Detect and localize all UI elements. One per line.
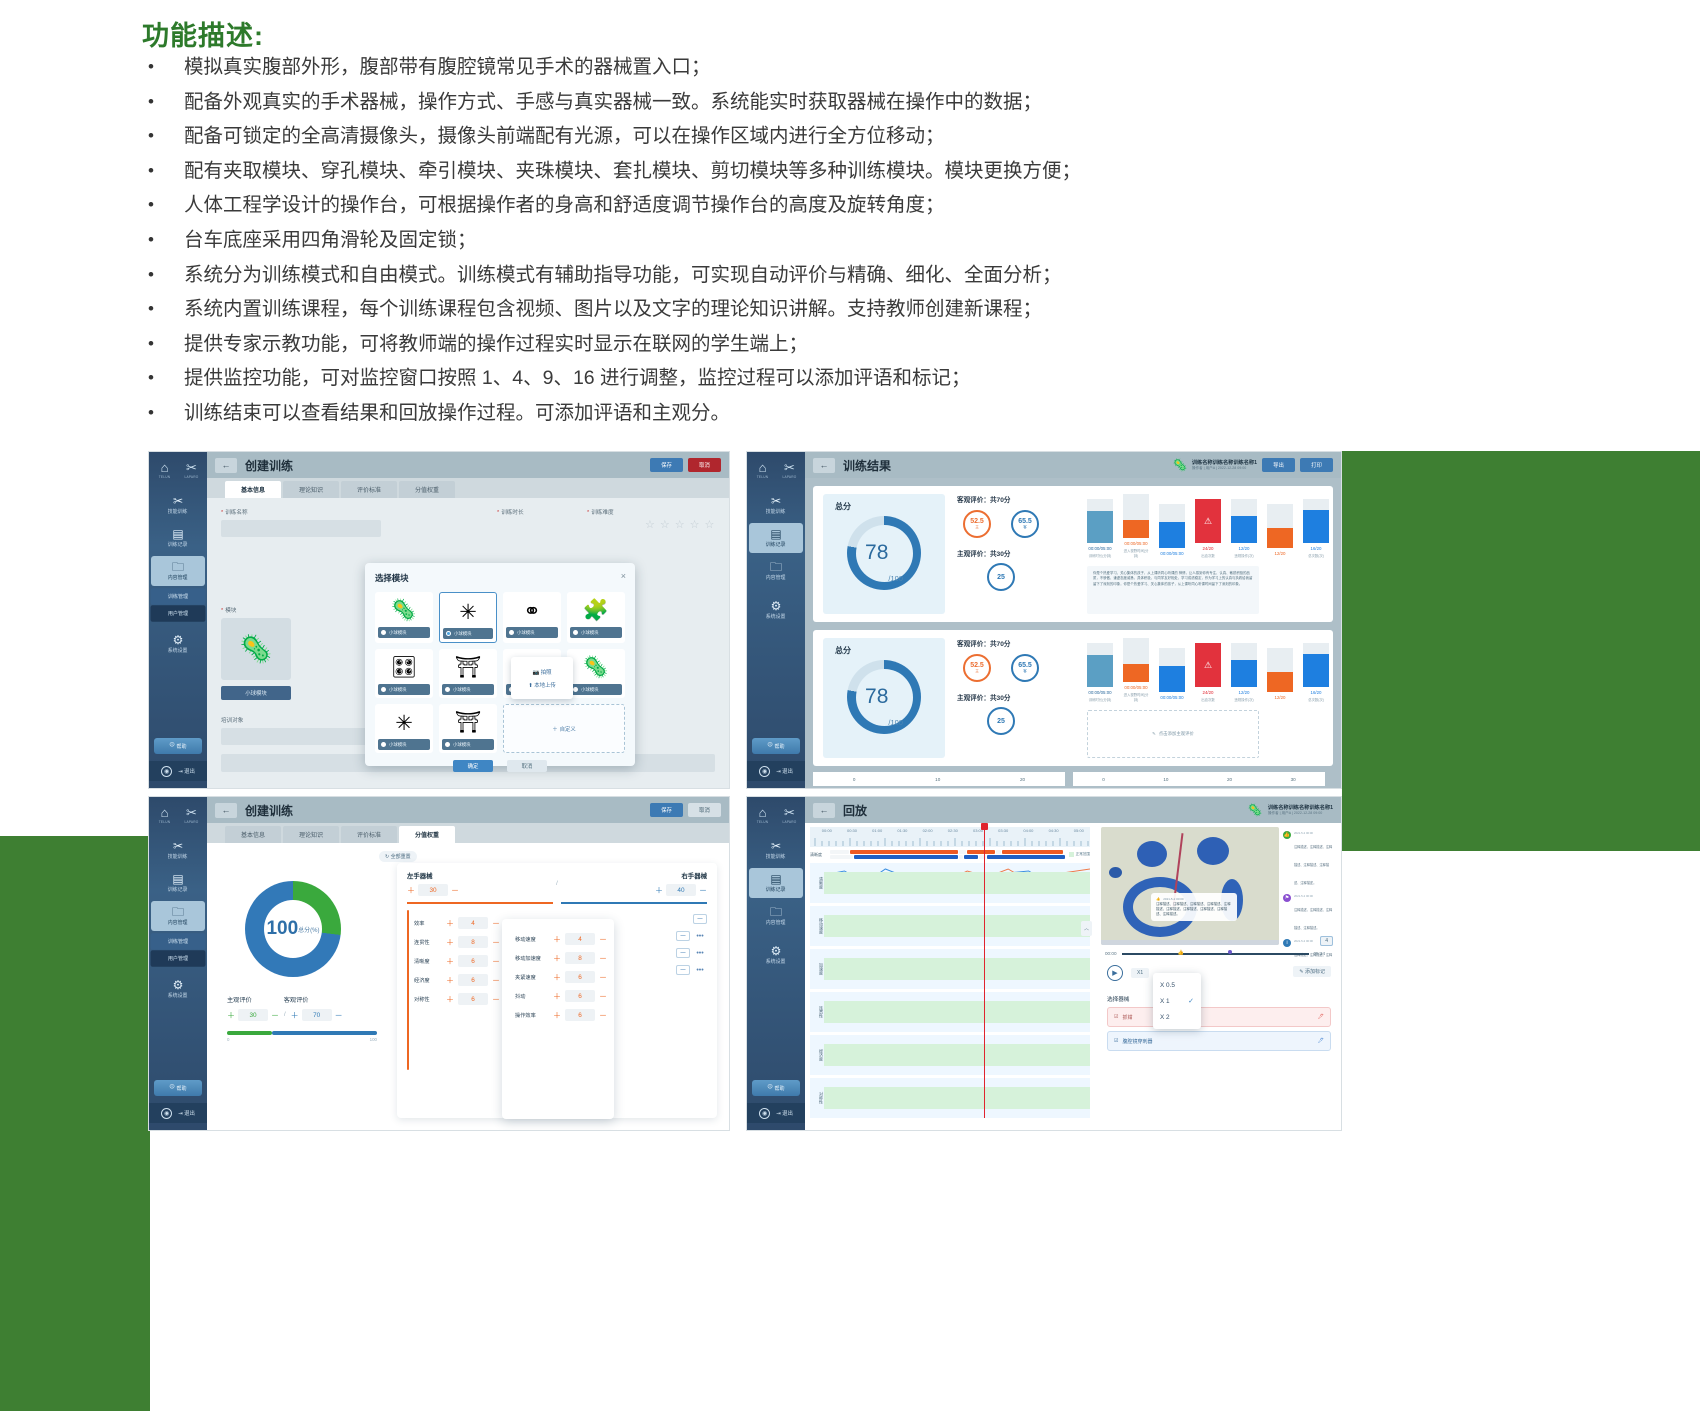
back-button[interactable]: ← <box>215 803 237 818</box>
checkbox-icon[interactable]: ☑ <box>1114 1038 1118 1044</box>
module-select-button[interactable]: 小球模块 <box>221 686 291 700</box>
label-target: 培训对象 <box>221 716 243 724</box>
sidebar-subitem-training-management[interactable]: 训练管理 <box>151 933 206 950</box>
sidebar-item-system-settings[interactable]: ⚙系统设置 <box>749 595 803 625</box>
feature-item: •系统分为训练模式和自由模式。训练模式有辅助指导功能，可实现自动评价与精确、细化… <box>142 264 1342 286</box>
metric-bar: 12/20 <box>1267 648 1293 702</box>
sidebar-item-label: 技能训练 <box>168 509 188 516</box>
axis-tick: 10 <box>1163 777 1168 782</box>
minus-icon[interactable]: － <box>693 914 707 924</box>
instrument-label: 抓钳 <box>1122 1014 1132 1021</box>
feature-text: 模拟真实腹部外形，腹部带有腹腔镜常见手术的器械置入口； <box>184 56 711 78</box>
module-thumbnail: 🦠 <box>378 595 430 627</box>
sidebar-subitem-training-management[interactable]: 训练管理 <box>151 588 206 605</box>
weights-slider[interactable] <box>227 1031 377 1035</box>
module-option[interactable]: ⚭小球模块 <box>503 592 561 643</box>
module-option-label: 小球模块 <box>453 742 471 748</box>
metric-bar: 12/20 <box>1267 504 1293 558</box>
sidebar-item-label: 系统设置 <box>168 648 188 655</box>
more-options-button[interactable]: ••• <box>693 948 707 958</box>
feature-item: •台车底座采用四角滑轮及固定锁； <box>142 229 1342 251</box>
playhead[interactable] <box>984 827 985 1118</box>
metric-value[interactable]: 6 <box>565 990 595 1002</box>
subjective-stepper[interactable]: ＋ 30 － <box>227 1009 279 1021</box>
help-button[interactable]: 🛈帮助 <box>752 1080 800 1096</box>
module-option[interactable]: ⛩小球模块 <box>439 649 497 698</box>
sidebar-item-label: 内容管理 <box>766 920 786 927</box>
minus-icon[interactable]: － <box>676 931 690 941</box>
instrument-icon: ✂ <box>771 495 781 508</box>
local-upload-option[interactable]: ⬆ 本地上传 <box>528 681 556 689</box>
feature-text: 提供专家示教功能，可将教师端的操作过程实时显示在联网的学生端上； <box>184 333 808 355</box>
instrument-row[interactable]: ☑腹腔镜穿刺器 🖊 <box>1107 1031 1331 1051</box>
help-label: 帮助 <box>177 1085 187 1092</box>
help-label: 帮助 <box>177 743 187 750</box>
avatar[interactable]: ◉ <box>161 1108 172 1119</box>
plus-icon[interactable]: ＋ <box>407 885 415 896</box>
module-option[interactable]: 🦠小球模块 <box>375 592 433 643</box>
total-score-title: 总分 <box>835 501 851 512</box>
upload-menu: 📷 拍照 ⬆ 本地上传 <box>511 657 573 699</box>
avatar[interactable]: ◉ <box>161 766 172 777</box>
logo-instrument-icon: ✂ <box>186 807 197 819</box>
objective-title: 客观评价：共70分 <box>957 638 1075 648</box>
minus-icon[interactable]: － <box>492 994 500 1005</box>
sidebar-item-label: 技能训练 <box>766 854 786 861</box>
sidebar-subitem-user-management[interactable]: 用户管理 <box>151 605 206 622</box>
tab-theory[interactable]: 理论知识 <box>283 826 339 843</box>
avatar[interactable]: ◉ <box>759 766 770 777</box>
radio-icon[interactable] <box>381 742 386 747</box>
marker-dot[interactable] <box>1228 950 1232 954</box>
back-button[interactable]: ← <box>215 458 237 473</box>
topbar: ← 回放 🦠 训练名称训练名称训练名称1 操作者 | 用户A | 2022-12… <box>805 797 1341 823</box>
metric-value[interactable]: 6 <box>565 1009 595 1021</box>
plus-icon[interactable]: ＋ <box>655 885 663 896</box>
metric-value[interactable]: 6 <box>458 993 488 1005</box>
topbar: ← 训练结果 🦠 训练名称训练名称训练名称1 操作者 | 用户A | 2022-… <box>805 452 1341 478</box>
plus-icon[interactable]: ＋ <box>553 991 561 1002</box>
total-score-max: /100 <box>888 718 903 727</box>
note-text: 注释描述、注释描述、注释描述、注释描述、注释描述、注释描述、注释描述、注释描述、… <box>1156 902 1232 917</box>
weights-donut-wrap: 100 总分(%) <box>245 881 341 977</box>
seek-bar[interactable]: 00:00 👍 05:24 <box>1105 951 1325 956</box>
dialog-cancel-button[interactable]: 取消 <box>507 760 547 772</box>
metric-value[interactable]: 8 <box>458 936 488 948</box>
ruler-tick-label: 02:30 <box>948 828 958 833</box>
left-hand-value[interactable]: 30 <box>418 884 448 896</box>
total-score-value: 78 <box>865 685 888 709</box>
metric-bar: ⚠24/20出血次数 <box>1195 643 1221 702</box>
target-input[interactable] <box>221 728 381 745</box>
comment-text: 注释描述、注释描述、注释描述、注释描述、注释描述、注释描述。 <box>1294 845 1332 885</box>
module-thumbnail: ⚭ <box>506 595 558 627</box>
thumbs-up-icon: 👍 <box>1283 831 1291 839</box>
plus-icon: ＋ <box>552 725 557 733</box>
custom-label: 自定义 <box>560 725 576 733</box>
metric-value[interactable]: 6 <box>565 971 595 983</box>
sidebar-item-label: 内容管理 <box>168 575 188 582</box>
metric-value[interactable]: 4 <box>565 933 595 945</box>
training-name-input[interactable] <box>221 520 381 537</box>
sidebar-item-content-management[interactable]: 🗀内容管理 <box>749 901 803 931</box>
dialog-title: 选择模块 <box>375 572 625 584</box>
minus-icon[interactable]: － <box>599 953 607 964</box>
bullet-icon: • <box>142 56 184 78</box>
minus-icon[interactable]: － <box>599 991 607 1002</box>
feature-text: 配有夹取模块、穿孔模块、牵引模块、夹珠模块、套扎模块、剪切模块等多种训练模块。模… <box>184 160 1081 182</box>
module-option[interactable]: ✳小球模块 <box>375 704 433 753</box>
feature-item: •模拟真实腹部外形，腹部带有腹腔镜常见手术的器械置入口； <box>142 56 1342 78</box>
minus-icon[interactable]: － <box>492 918 500 929</box>
collapse-button[interactable]: ︿ <box>1081 921 1092 936</box>
logo-right-caption: LAPARO <box>783 475 797 479</box>
speed-option-label: X 1 <box>1160 998 1170 1005</box>
checkbox-icon[interactable]: ☑ <box>1114 1014 1118 1020</box>
weights-donut: 100 总分(%) <box>245 881 341 977</box>
axis-right: 0 10 20 30 <box>1073 772 1325 786</box>
camera-option[interactable]: 📷 拍照 <box>532 668 551 676</box>
subjective-comment: 你是个热爱学习、关心集体的孩子，从上课听同心听课的 神情，让人感到你有专注、认真… <box>1087 566 1259 614</box>
right-hand-title: 右手器械 <box>655 871 707 880</box>
feature-item: •提供专家示教功能，可将教师端的操作过程实时显示在联网的学生端上； <box>142 333 1342 355</box>
print-button[interactable]: 打印 <box>1300 458 1333 472</box>
minus-icon[interactable]: － <box>699 885 707 896</box>
logo-instrument-icon: ✂ <box>186 462 197 474</box>
sidebar-item-training-records[interactable]: ▤训练记录 <box>749 868 803 898</box>
subjective-title: 主观评价：共30分 <box>957 548 1075 558</box>
feature-item: •人体工程学设计的操作台，可根据操作者的身高和舒适度调节操作台的高度及旋转角度； <box>142 194 1342 216</box>
video-column: 👍2021-5-2 00:00 注释描述、注释描述、注释描述、注释描述、注释描述… <box>1095 823 1341 1130</box>
form-area: *训练名称 *训练时长 *训练难度 ☆☆☆☆☆ *模块 🦠 小球模块 培训对象 … <box>207 498 729 788</box>
play-button[interactable]: ▶ <box>1107 965 1123 981</box>
popover-metric-row: 抖动＋6－ <box>515 990 607 1002</box>
star-icon[interactable]: ☆ <box>690 518 700 531</box>
comment-time: 2021-5-2 00:00 <box>1294 894 1335 898</box>
instrument-select-label: 选择器械 <box>1107 995 1331 1003</box>
sidebar-item-label: 系统设置 <box>766 614 786 621</box>
bullet-icon: • <box>142 298 184 320</box>
module-thumbnail: 🎛 <box>378 652 430 684</box>
total-score-max: /100 <box>888 574 903 583</box>
chart-row: 连贯性 <box>810 992 1090 1032</box>
plus-icon[interactable]: ＋ <box>553 934 561 945</box>
comment-item[interactable]: 👍2021-5-2 00:00注释描述、注释描述、注释描述、注释描述、注释描述、… <box>1283 831 1335 889</box>
sidebar-item-system-settings[interactable]: ⚙系统设置 <box>151 974 205 1004</box>
chart-row: 加速度 <box>810 949 1090 989</box>
feature-text: 训练结束可以查看结果和回放操作过程。可添加评语和主观分。 <box>184 402 730 424</box>
subjective-score-ring: 25 <box>987 707 1015 735</box>
axis-left: 0 10 20 <box>813 772 1065 786</box>
comment-item[interactable]: ⚑2021-5-2 00:00注释描述、注释描述、注释描述、注释描述。 <box>1283 894 1335 934</box>
tab-basic-info[interactable]: 基本信息 <box>225 481 281 498</box>
star-icon[interactable]: ☆ <box>675 518 685 531</box>
logo-arch-icon: ⌂ <box>759 462 767 474</box>
add-custom-module-button[interactable]: ＋自定义 <box>503 704 625 753</box>
metric-bars: 00:00/05:00训练时长(分钟) 00:00/05:00进入视野时间(分钟… <box>1087 494 1323 558</box>
logo-right-caption: LAPARO <box>783 820 797 824</box>
add-subjective-comment-button[interactable]: ✎点击添加主观评价 <box>1087 710 1259 758</box>
chart-row: 对称性 <box>810 1078 1090 1118</box>
add-marker-button[interactable]: ✎ 添加标记 <box>1293 966 1331 977</box>
logout-button[interactable]: ⇥ 退出 <box>178 1109 195 1117</box>
playback-area: 00:00 00:30 01:00 01:30 02:00 02:30 03:0… <box>805 823 1341 1130</box>
module-option[interactable]: 🧩小球模块 <box>567 592 625 643</box>
plus-icon[interactable]: ＋ <box>446 975 454 986</box>
logo-left-caption: TELUN <box>159 475 170 479</box>
sidebar: ⌂TELUN ✂LAPARO ✂技能训练 ▤训练记录 🗀内容管理 ⚙系统设置 🛈… <box>747 452 805 788</box>
bullet-icon: • <box>142 229 184 251</box>
back-button[interactable]: ← <box>813 803 835 818</box>
right-hand-value[interactable]: 40 <box>666 884 696 896</box>
edit-icon: ✎ <box>1152 731 1156 737</box>
bullet-icon: • <box>142 160 184 182</box>
result-card: 总分 78 /100 客观评价：共70分 52.5主 65.5客 <box>813 486 1333 622</box>
metric-bar: 12/20违规操作(次) <box>1231 643 1257 702</box>
sidebar-item-content-management[interactable]: 🗀内容管理 <box>749 556 803 586</box>
bullet-icon: • <box>142 125 184 147</box>
sidebar-item-skills-training[interactable]: ✂技能训练 <box>151 490 205 520</box>
minus-icon[interactable]: － <box>492 956 500 967</box>
tab-bar: 基本信息 理论知识 评价标准 分值权重 <box>207 823 729 843</box>
bullet-icon: • <box>142 91 184 113</box>
plus-icon[interactable]: ＋ <box>446 937 454 948</box>
module-option[interactable]: ⛩小球模块 <box>439 704 497 753</box>
save-button[interactable]: 保存 <box>650 803 683 817</box>
total-score-box: 总分 78 /100 <box>823 638 945 758</box>
module-options-grid: 🦠小球模块 ✳小球模块 ⚭小球模块 🧩小球模块 🎛小球模块 ⛩小球模块 ⚙小球模… <box>375 592 625 753</box>
axis-tick: 10 <box>935 777 940 782</box>
sidebar-item-label: 技能训练 <box>766 509 786 516</box>
module-option[interactable]: 🎛小球模块 <box>375 649 433 698</box>
logo-instrument-icon: ✂ <box>784 462 795 474</box>
page-heading: 创建训练 <box>245 802 293 819</box>
sidebar-subitem-user-management[interactable]: 用户管理 <box>151 950 206 967</box>
ruler-tick-label: 01:00 <box>872 828 882 833</box>
ruler-tick-label: 00:30 <box>847 828 857 833</box>
back-button[interactable]: ← <box>813 458 835 473</box>
radio-icon[interactable] <box>446 631 451 636</box>
tab-criteria[interactable]: 评价标准 <box>341 481 397 498</box>
logout-button[interactable]: ⇥ 退出 <box>178 767 195 775</box>
speed-option[interactable]: X 1✓ <box>1153 993 1201 1009</box>
minus-icon[interactable]: － <box>599 934 607 945</box>
minus-icon[interactable]: － <box>492 975 500 986</box>
help-button[interactable]: 🛈帮助 <box>752 738 800 754</box>
info-icon: i <box>1283 939 1291 947</box>
module-badge-icon: 🦠 <box>1173 458 1188 472</box>
minus-icon[interactable]: － <box>676 948 690 958</box>
app-logo: ⌂TELUN ✂LAPARO <box>752 458 801 482</box>
plus-icon[interactable]: ＋ <box>446 918 454 929</box>
radio-icon[interactable] <box>573 687 578 692</box>
radio-icon[interactable] <box>445 687 450 692</box>
dialog-confirm-button[interactable]: 确定 <box>453 760 493 772</box>
star-icon[interactable]: ☆ <box>705 518 715 531</box>
records-icon: ▤ <box>770 528 781 541</box>
playback-speed-button[interactable]: X1 <box>1131 968 1149 978</box>
tab-weights[interactable]: 分值权重 <box>399 826 455 843</box>
help-button[interactable]: 🛈帮助 <box>154 1080 202 1096</box>
plus-icon[interactable]: ＋ <box>446 994 454 1005</box>
radio-icon[interactable] <box>573 630 578 635</box>
topbar: ← 创建训练 保存 取消 <box>207 452 729 478</box>
sidebar-footer: ◉ ⇥ 退出 <box>747 761 805 781</box>
axis-tick: 20 <box>1227 777 1232 782</box>
axis-strip: 0 10 20 0 10 20 30 <box>813 772 1333 786</box>
metric-bar: 00:00/05:00训练时长(分钟) <box>1087 499 1113 558</box>
minus-icon[interactable]: － <box>271 1010 279 1021</box>
tab-basic-info[interactable]: 基本信息 <box>225 826 281 843</box>
avatar[interactable]: ◉ <box>759 1108 770 1119</box>
sidebar-item-training-records[interactable]: ▤训练记录 <box>151 868 205 898</box>
radio-icon[interactable] <box>445 742 450 747</box>
radio-icon[interactable] <box>381 630 386 635</box>
difficulty-stars[interactable]: ☆☆☆☆☆ <box>645 518 714 531</box>
help-button[interactable]: 🛈帮助 <box>154 738 202 754</box>
metric-value[interactable]: 6 <box>458 974 488 986</box>
minus-icon[interactable]: － <box>335 1010 343 1021</box>
left-hand-title: 左手器械 <box>407 871 459 880</box>
marker-thumbsup-icon[interactable]: 👍 <box>1178 950 1184 956</box>
subjective-eval-label: 主观评价 <box>227 995 252 1004</box>
star-icon[interactable]: ☆ <box>645 518 655 531</box>
ruler-tick-label: 05:00 <box>1074 828 1084 833</box>
sidebar-item-training-records[interactable]: ▤训练记录 <box>151 523 205 553</box>
module-option[interactable]: 🦠小球模块 <box>567 649 625 698</box>
folder-icon: 🗀 <box>770 906 782 919</box>
ruler-tick-label: 01:30 <box>897 828 907 833</box>
module-option[interactable]: ✳小球模块 <box>439 592 497 643</box>
logo-instrument-icon: ✂ <box>784 807 795 819</box>
objective-value[interactable]: 70 <box>302 1009 332 1021</box>
legend: 正常范围 <box>1069 852 1090 857</box>
plus-icon[interactable]: ＋ <box>446 956 454 967</box>
sidebar-item-skills-training[interactable]: ✂技能训练 <box>749 490 803 520</box>
screenshot-create-training: ⌂TELUN ✂LAPARO ✂技能训练 ▤训练记录 🗀内容管理 训练管理 用户… <box>148 451 730 789</box>
module-thumbnail: ✳ <box>443 596 493 628</box>
minus-icon[interactable]: － <box>451 885 459 896</box>
weights-total-label: 总分(%) <box>298 925 319 934</box>
instrument-icon: ✂ <box>173 840 183 853</box>
logout-button[interactable]: ⇥ 退出 <box>776 1109 793 1117</box>
timeline-ruler[interactable]: 00:00 00:30 01:00 01:30 02:00 02:30 03:0… <box>810 827 1090 847</box>
sidebar-item-system-settings[interactable]: ⚙系统设置 <box>151 629 205 659</box>
objective-stepper[interactable]: ＋ 70 － <box>291 1009 343 1021</box>
tab-theory[interactable]: 理论知识 <box>283 481 339 498</box>
feature-item: •提供监控功能，可对监控窗口按照 1、4、9、16 进行调整，监控过程可以添加评… <box>142 367 1342 389</box>
bullet-icon: • <box>142 194 184 216</box>
logout-button[interactable]: ⇥ 退出 <box>776 767 793 775</box>
divider: / <box>556 881 558 887</box>
legend-swatch <box>1069 852 1074 857</box>
plus-icon[interactable]: ＋ <box>553 1010 561 1021</box>
feature-text: 台车底座采用四角滑轮及固定锁； <box>184 229 477 251</box>
tab-criteria[interactable]: 评价标准 <box>341 826 397 843</box>
feature-text: 配备可锁定的全高清摄像头，摄像头前端配有光源，可以在操作区域内进行全方位移动； <box>184 125 945 147</box>
minus-icon[interactable]: － <box>599 1010 607 1021</box>
metric-bar: 16/20总次数(次) <box>1303 499 1329 558</box>
chart-row: 清晰度 <box>810 863 1090 903</box>
export-button[interactable]: 导出 <box>1262 458 1295 472</box>
folder-icon: 🗀 <box>770 561 782 574</box>
cancel-button[interactable]: 取消 <box>688 458 721 472</box>
instrument-row[interactable]: ☑抓钳 🖊 <box>1107 1007 1331 1027</box>
reset-all-button[interactable]: ↻ 全部重置 <box>379 851 417 862</box>
module-thumbnail: 🦠 <box>570 652 622 684</box>
module-badge-icon: 🦠 <box>1248 803 1263 817</box>
sidebar: ⌂TELUN ✂LAPARO ✂技能训练 ▤训练记录 🗀内容管理 训练管理 用户… <box>149 797 207 1130</box>
metric-value[interactable]: 8 <box>565 952 595 964</box>
sidebar-item-system-settings[interactable]: ⚙系统设置 <box>749 940 803 970</box>
right-hand-stepper[interactable]: ＋ 40 － <box>655 884 707 896</box>
minus-icon[interactable]: － <box>492 937 500 948</box>
sidebar-item-skills-training[interactable]: ✂技能训练 <box>151 835 205 865</box>
more-options-button[interactable]: ••• <box>693 931 707 941</box>
feature-text: 配备外观真实的手术器械，操作方式、手感与真实器械一致。系统能实时获取器械在操作中… <box>184 91 1042 113</box>
radio-icon[interactable] <box>509 630 514 635</box>
radio-icon[interactable] <box>381 687 386 692</box>
speed-option[interactable]: X 0.5✓ <box>1153 977 1201 993</box>
sidebar-item-content-management[interactable]: 🗀内容管理 <box>151 901 205 931</box>
left-hand-stepper[interactable]: ＋ 30 － <box>407 884 459 896</box>
metric-value[interactable]: 6 <box>458 955 488 967</box>
speed-option[interactable]: X 2✓ <box>1153 1009 1201 1025</box>
close-icon[interactable]: × <box>621 571 626 581</box>
bullet-icon: • <box>142 264 184 286</box>
playback-meta: 操作者 | 用户A | 2022-12-28 09:00 <box>1268 811 1333 816</box>
plus-icon[interactable]: ＋ <box>553 972 561 983</box>
tab-weights[interactable]: 分值权重 <box>399 481 455 498</box>
label-module: *模块 <box>221 606 236 614</box>
metric-value[interactable]: 4 <box>458 917 488 929</box>
sidebar-item-training-records[interactable]: ▤训练记录 <box>749 523 803 553</box>
minus-icon[interactable]: － <box>599 972 607 983</box>
plus-icon[interactable]: ＋ <box>227 1010 235 1021</box>
video-note-bubble: 👍2021-5-2 00:00 注释描述、注释描述、注释描述、注释描述、注释描述… <box>1151 893 1237 921</box>
ruler-tick-label: 03:30 <box>998 828 1008 833</box>
logo-left-caption: TELUN <box>159 820 170 824</box>
axis-tick: 20 <box>1020 777 1025 782</box>
cancel-button[interactable]: 取消 <box>688 803 721 817</box>
feature-text: 系统内置训练课程，每个训练课程包含视频、图片以及文字的理论知识讲解。支持教师创建… <box>184 298 1042 320</box>
pen-icon: 🖊 <box>1318 1038 1324 1044</box>
speed-option-label: X 2 <box>1160 1014 1170 1021</box>
sidebar-item-label: 系统设置 <box>766 959 786 966</box>
slider-max-label: 100 <box>370 1037 377 1042</box>
feature-item: •系统内置训练课程，每个训练课程包含视频、图片以及文字的理论知识讲解。支持教师创… <box>142 298 1342 320</box>
save-button[interactable]: 保存 <box>650 458 683 472</box>
plus-icon[interactable]: ＋ <box>291 1010 299 1021</box>
sidebar-item-skills-training[interactable]: ✂技能训练 <box>749 835 803 865</box>
page-heading: 训练结果 <box>843 457 891 474</box>
feature-text: 提供监控功能，可对监控窗口按照 1、4、9、16 进行调整，监控过程可以添加评语… <box>184 367 971 389</box>
module-option-label: 小球模块 <box>581 630 599 636</box>
result-meta: 操作者 | 用户A | 2022-12-28 09:00 <box>1192 466 1257 471</box>
plus-icon[interactable]: ＋ <box>553 953 561 964</box>
module-option-label: 小球模块 <box>517 630 535 636</box>
more-options-button[interactable]: ••• <box>693 965 707 975</box>
sidebar-item-content-management[interactable]: 🗀内容管理 <box>151 556 205 586</box>
video-player[interactable]: 👍2021-5-2 00:00 注释描述、注释描述、注释描述、注释描述、注释描述… <box>1101 827 1279 945</box>
label-duration: *训练时长 <box>497 508 524 516</box>
subjective-value[interactable]: 30 <box>238 1009 268 1021</box>
star-icon[interactable]: ☆ <box>660 518 670 531</box>
flag-icon: ⚑ <box>1283 894 1291 902</box>
instrument-icon: ✂ <box>771 840 781 853</box>
sidebar-item-label: 训练记录 <box>766 542 786 549</box>
minus-icon[interactable]: － <box>676 965 690 975</box>
